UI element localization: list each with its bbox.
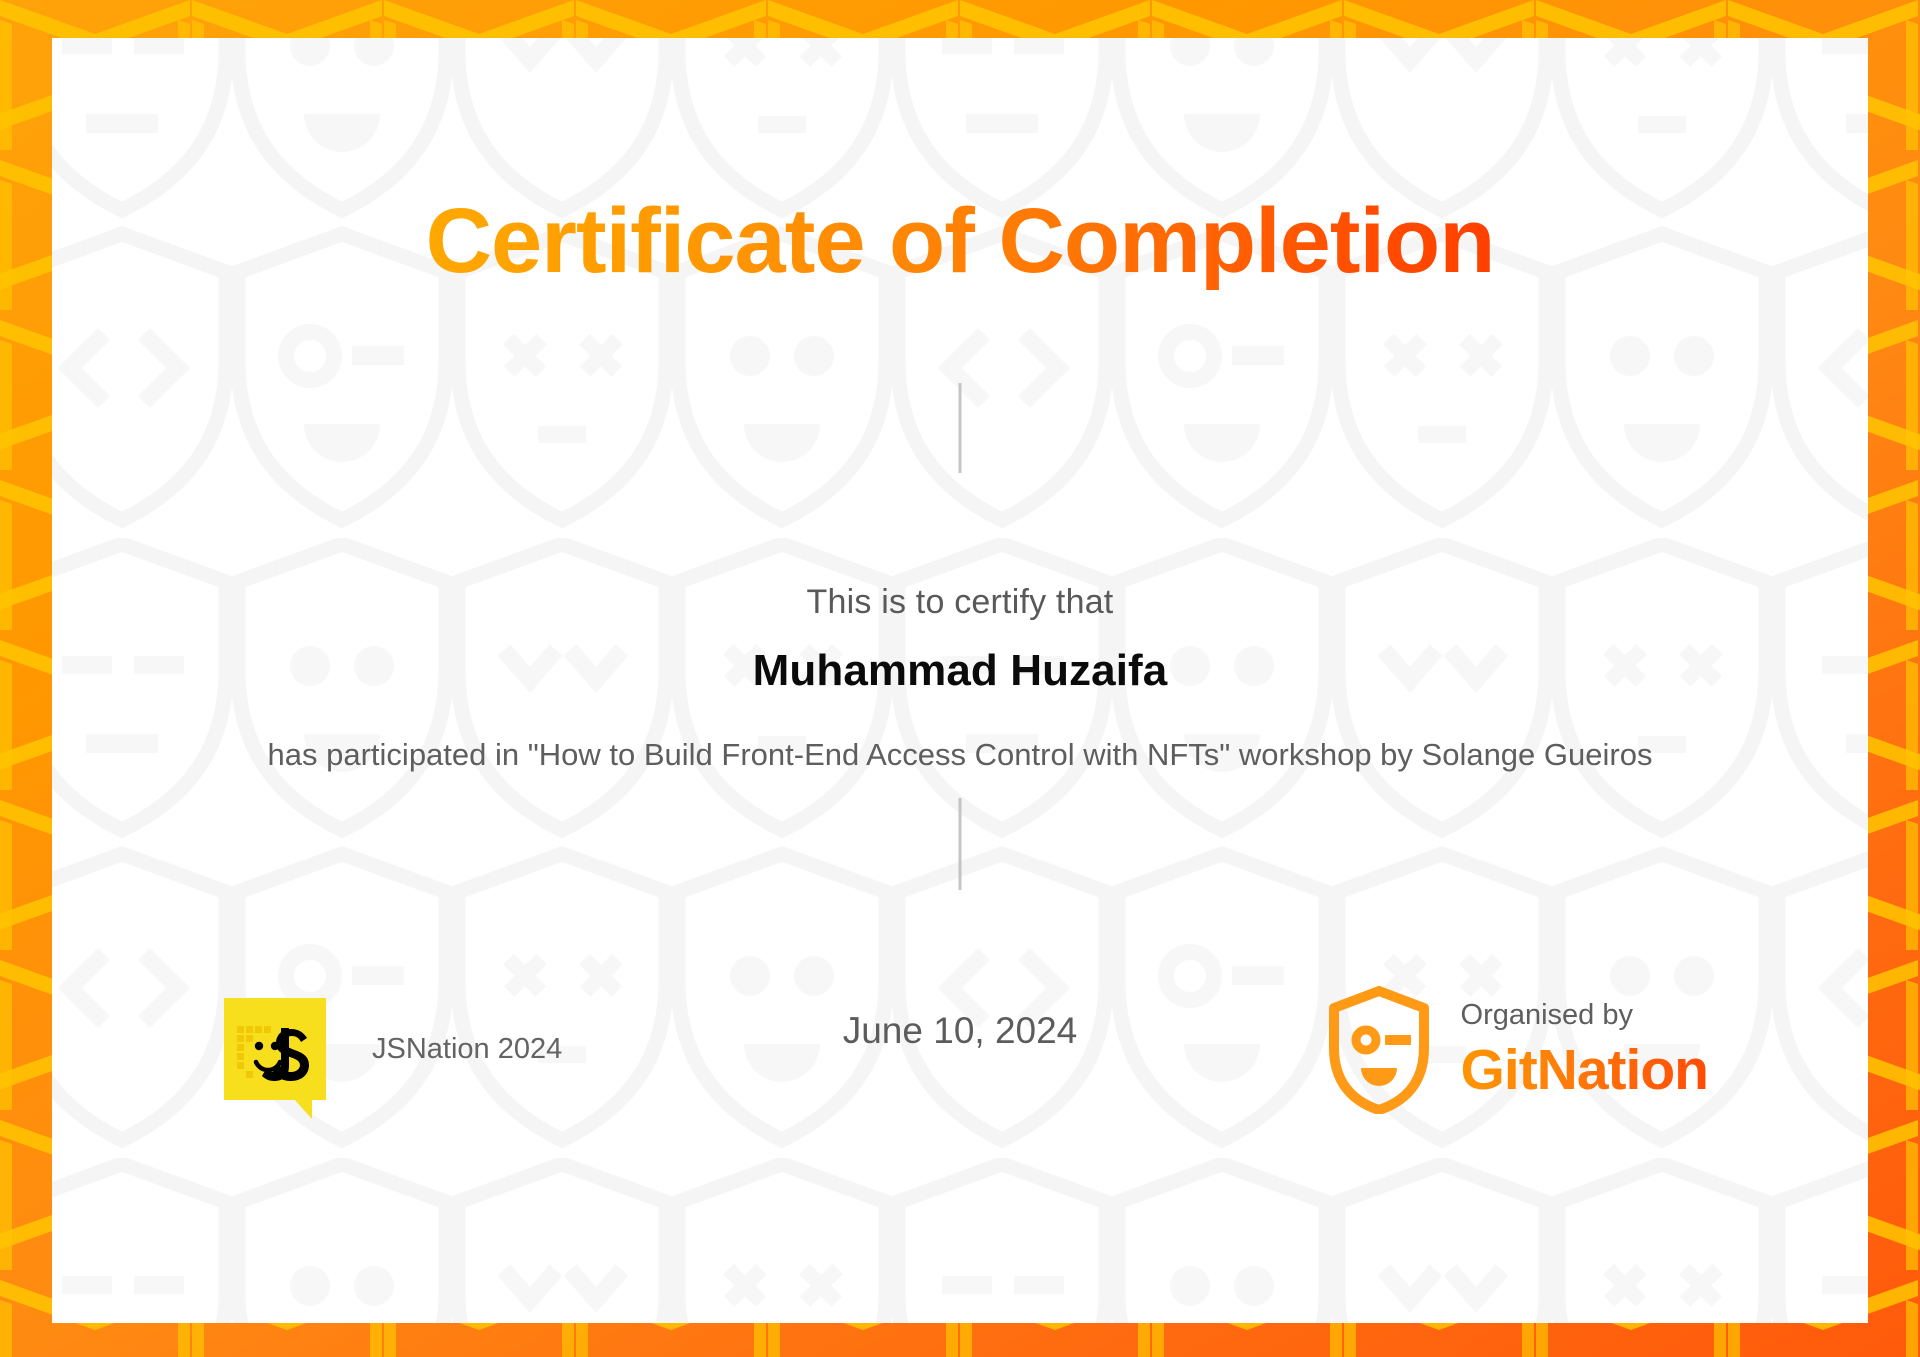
event-block: JSNation 2024 — [224, 998, 562, 1100]
page-title: Certificate of Completion — [426, 193, 1495, 290]
divider-bottom — [959, 798, 962, 890]
certificate-footer: JSNation 2024 June 10, 2024 Organised by… — [52, 998, 1868, 1178]
gitnation-wordmark: GitNation — [1461, 1042, 1708, 1099]
certificate-card: Certificate of Completion This is to cer… — [52, 38, 1868, 1323]
issue-date: June 10, 2024 — [843, 1010, 1078, 1052]
certify-line: This is to certify that — [52, 583, 1868, 622]
recipient-name: Muhammad Huzaifa — [52, 646, 1868, 696]
title-container: Certificate of Completion — [52, 193, 1868, 290]
certificate: Certificate of Completion This is to cer… — [0, 0, 1920, 1357]
organised-by-label: Organised by — [1461, 1001, 1708, 1030]
organiser-text: Organised by GitNation — [1461, 1001, 1708, 1099]
participation-text: has participated in "How to Build Front-… — [200, 734, 1720, 776]
speech-bubble-tail — [293, 1098, 312, 1119]
event-name: JSNation 2024 — [372, 1033, 562, 1066]
gitnation-shield-icon — [1327, 986, 1431, 1114]
js-logo-icon — [224, 998, 326, 1100]
divider-top — [959, 383, 962, 473]
organiser-block: Organised by GitNation — [1327, 986, 1708, 1114]
certificate-body: This is to certify that Muhammad Huzaifa… — [52, 583, 1868, 776]
